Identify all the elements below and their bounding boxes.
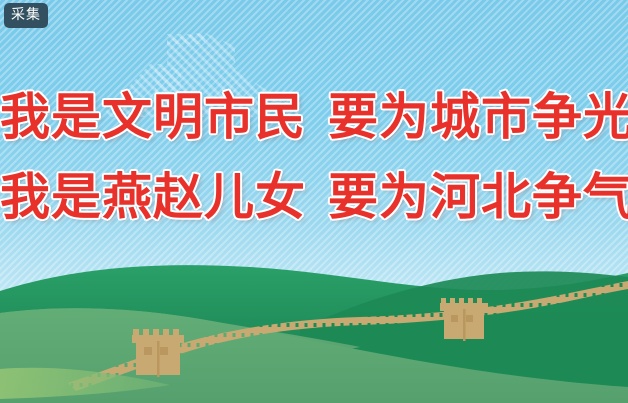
slogan-line-1-right: 要为城市争光: [328, 88, 628, 146]
slogan-line-1-left: 我是文明市民: [0, 88, 306, 146]
slogan-headline: 我是文明市民要为城市争光 我是燕赵儿女要为河北争气: [0, 92, 628, 222]
landscape-illustration: [0, 243, 628, 403]
great-wall-tower-right: [440, 298, 488, 341]
great-wall-tower-left: [132, 329, 184, 377]
slogan-line-2-left: 我是燕赵儿女: [0, 168, 306, 226]
slogan-line-1: 我是文明市民要为城市争光: [0, 92, 628, 142]
slogan-line-2: 我是燕赵儿女要为河北争气: [0, 172, 628, 222]
capture-badge[interactable]: 采集: [4, 3, 48, 28]
poster-canvas: 我是文明市民要为城市争光 我是燕赵儿女要为河北争气 采集: [0, 0, 628, 403]
slogan-line-2-right: 要为河北争气: [328, 168, 628, 226]
